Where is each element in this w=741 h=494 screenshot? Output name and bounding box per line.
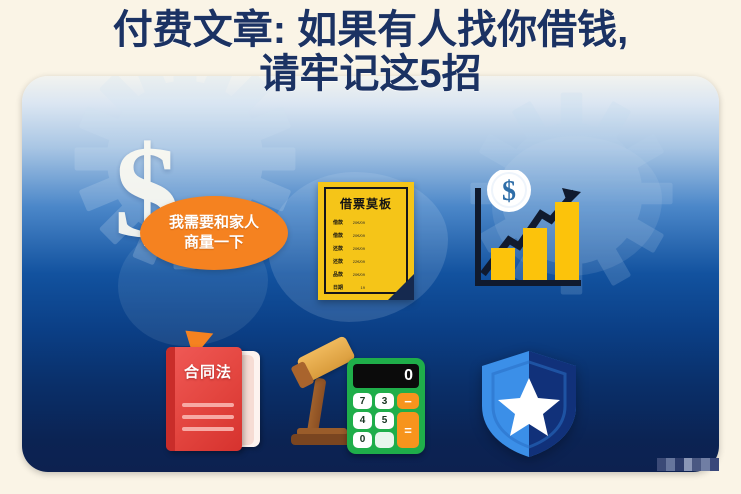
row-amount: 22€/09 [351,259,365,264]
mosaic-block [710,458,719,471]
mosaic-block [666,458,675,471]
calculator-key-4[interactable]: 4 [353,412,372,428]
mosaic-block [684,458,693,471]
poster-canvas: $ 我需要和家人 商量一下 借票莫板 借款 20€/09 借款 [0,0,741,494]
speech-bubble: 我需要和家人 商量一下 [140,196,288,270]
calculator-key-7[interactable]: 7 [353,393,372,409]
speech-bubble-line2: 商量一下 [184,233,244,253]
title-line-2: 请牢记这5招 [0,52,741,96]
calculator-key-equals[interactable]: = [397,412,419,448]
calculator-key-blank[interactable] [375,432,394,448]
growth-bar-chart-icon: $ [463,170,585,296]
book-title: 合同法 [178,361,238,382]
gavel-sound-block [291,434,353,445]
calculator-key-3[interactable]: 3 [375,393,394,409]
svg-text:$: $ [502,176,516,207]
document-row: 借款 20€/09 [333,217,400,228]
row-label: 借款 [333,232,348,239]
chart-svg: $ [463,170,585,296]
row-label: 借款 [333,219,348,226]
speech-bubble-line1: 我需要和家人 [169,213,259,233]
row-label: 品款 [333,271,348,278]
calculator-key-minus[interactable]: − [397,393,419,409]
book-text-line [182,403,234,407]
row-amount: 20€/09 [351,246,365,251]
calculator-display-value: 0 [404,367,413,385]
row-amount: 20€/09 [351,233,365,238]
book-text-line [182,427,234,431]
mosaic-watermark [657,458,719,471]
row-amount: 19 [351,285,365,290]
document-row: 借款 20€/09 [333,230,400,241]
document-row: 还款 22€/09 [333,256,400,267]
book-spine [166,347,175,451]
calculator-key-0[interactable]: 0 [353,432,372,448]
calculator-key-5[interactable]: 5 [375,412,394,428]
document-row: 还款 20€/09 [333,243,400,254]
row-label: 还款 [333,258,348,265]
mosaic-block [657,458,666,471]
document-heading: 借票莫板 [326,195,406,212]
shield-star-icon [476,348,582,460]
row-label: 还款 [333,245,348,252]
mosaic-block [675,458,684,471]
document-folded-corner [388,274,414,300]
calculator-keypad: 7 3 − 4 5 = 0 [353,393,419,448]
poster-title: 付费文章: 如果有人找你借钱, 请牢记这5招 [0,8,741,96]
row-amount: 20€/09 [351,220,365,225]
speech-bubble-text: 我需要和家人 商量一下 [140,196,288,270]
title-line-1: 付费文章: 如果有人找你借钱, [0,8,741,52]
book-text-line [182,415,234,419]
calculator-icon: 0 7 3 − 4 5 = 0 [347,358,425,454]
row-amount: 20€/09 [351,272,365,277]
contract-law-book-icon: 合同法 [160,345,266,453]
mosaic-block [692,458,701,471]
iou-template-document: 借票莫板 借款 20€/09 借款 20€/09 还款 [318,182,414,300]
calculator-display: 0 [353,364,419,388]
dollar-coin-badge: $ [487,170,531,212]
mosaic-block [701,458,710,471]
row-label: 日期 [333,284,348,291]
main-blue-panel: $ 我需要和家人 商量一下 借票莫板 借款 20€/09 借款 [22,76,719,472]
